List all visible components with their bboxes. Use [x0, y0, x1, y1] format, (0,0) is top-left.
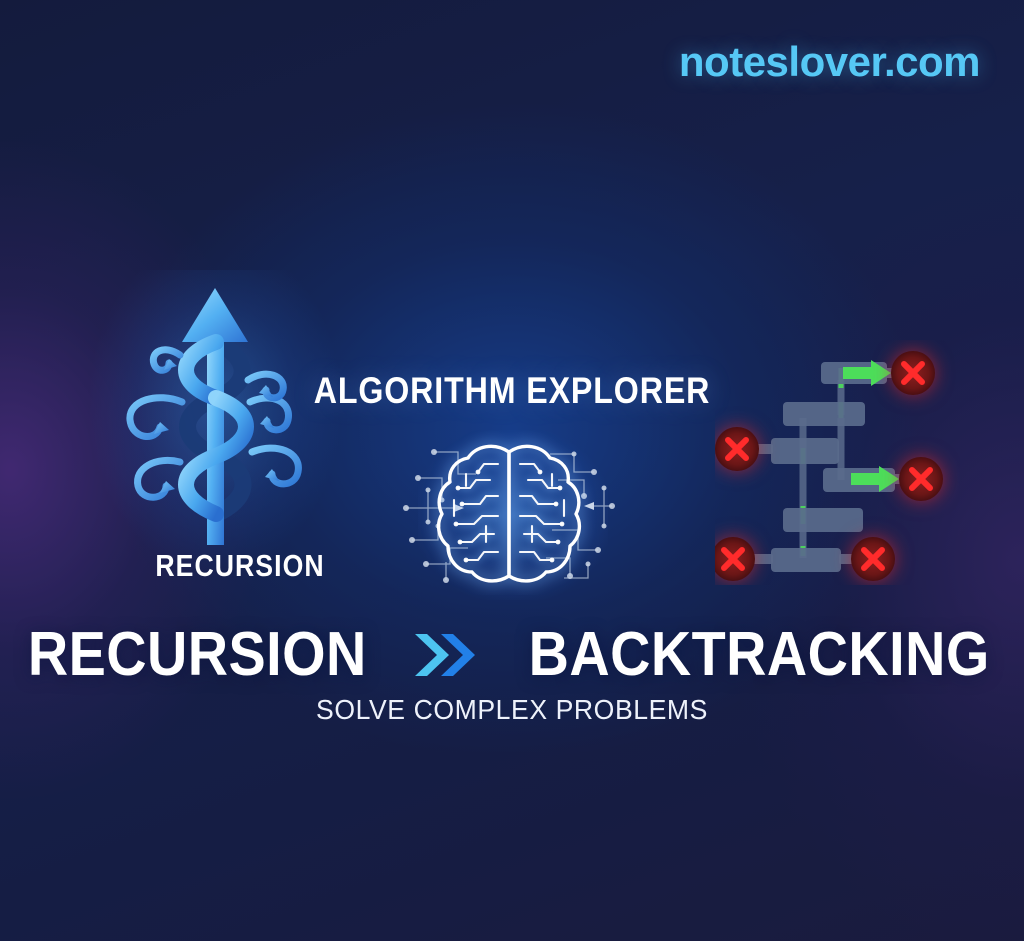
left-panel-label: RECURSION — [34, 548, 447, 584]
recursion-spiral-arrow-icon — [120, 280, 310, 550]
headline-right-word: BACKTRACKING — [529, 624, 990, 686]
double-chevron-right-icon — [411, 628, 477, 682]
headline-left-word: RECURSION — [27, 624, 366, 686]
recursion-icon-wrap — [120, 280, 310, 550]
center-panel-title: ALGORITHM EXPLORER — [67, 370, 958, 412]
poster-canvas: noteslover.com — [0, 0, 1024, 941]
subtitle: SOLVE COMPLEX PROBLEMS — [26, 694, 999, 726]
headline: RECURSION BACKTRACKING — [0, 624, 1024, 686]
watermark-noteslover: noteslover.com — [679, 38, 980, 86]
